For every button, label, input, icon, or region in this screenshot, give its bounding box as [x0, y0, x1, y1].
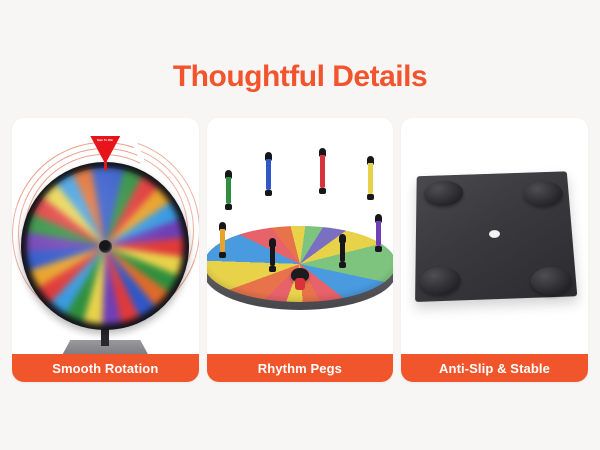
- peg-body: [220, 229, 225, 252]
- card-label-smooth-rotation: Smooth Rotation: [12, 354, 199, 382]
- rubber-foot-icon: [420, 266, 462, 295]
- card-label-rhythm-pegs: Rhythm Pegs: [207, 354, 394, 382]
- card-image-anti-slip: [401, 118, 588, 354]
- peg-body: [320, 155, 325, 188]
- wheel-peg-icon: [219, 222, 226, 258]
- wheel-peg-icon: [225, 170, 232, 210]
- disc-segments: [207, 226, 394, 302]
- promo-page: Thoughtful Details Spin To Win: [0, 0, 600, 450]
- peg-foot: [265, 190, 272, 196]
- peg-body: [226, 177, 231, 204]
- prize-wheel: [21, 162, 189, 330]
- peg-body: [340, 241, 345, 262]
- peg-foot: [339, 262, 346, 268]
- peg-foot: [219, 252, 226, 258]
- wheel-hub: [99, 240, 112, 253]
- rubber-foot-icon: [425, 180, 464, 206]
- wheel-peg-icon: [375, 214, 382, 252]
- feature-card-rhythm-pegs[interactable]: Rhythm Pegs: [207, 118, 394, 382]
- disc-hub-accent: [295, 278, 305, 290]
- pointer-label: Spin To Win: [95, 139, 115, 142]
- feature-card-smooth-rotation[interactable]: Spin To Win Smooth Rotation: [12, 118, 199, 382]
- card-image-rhythm-pegs: [207, 118, 394, 354]
- peg-foot: [375, 246, 382, 252]
- wheel-peg-icon: [367, 156, 374, 200]
- peg-body: [266, 159, 271, 190]
- angled-wheel-disc: [207, 226, 394, 322]
- base-plate-illustration: [401, 118, 588, 354]
- wheel-peg-icon: [265, 152, 272, 196]
- peg-foot: [367, 194, 374, 200]
- rubber-foot-icon: [524, 181, 565, 207]
- base-plate: [416, 171, 578, 302]
- peg-foot: [319, 188, 326, 194]
- page-title: Thoughtful Details: [0, 60, 600, 94]
- wheel-peg-icon: [319, 148, 326, 194]
- peg-wheel-illustration: [207, 118, 394, 354]
- wheel-peg-icon: [269, 238, 276, 272]
- peg-body: [270, 245, 275, 266]
- rubber-foot-icon: [530, 266, 573, 295]
- spinning-wheel-illustration: Spin To Win: [12, 118, 199, 354]
- center-hole: [489, 230, 500, 238]
- peg-foot: [225, 204, 232, 210]
- peg-foot: [269, 266, 276, 272]
- peg-body: [368, 163, 373, 194]
- peg-body: [376, 221, 381, 246]
- feature-card-row: Spin To Win Smooth Rotation: [12, 118, 588, 382]
- wheel-peg-icon: [339, 234, 346, 268]
- feature-card-anti-slip[interactable]: Anti-Slip & Stable: [401, 118, 588, 382]
- card-image-smooth-rotation: Spin To Win: [12, 118, 199, 354]
- card-label-anti-slip: Anti-Slip & Stable: [401, 354, 588, 382]
